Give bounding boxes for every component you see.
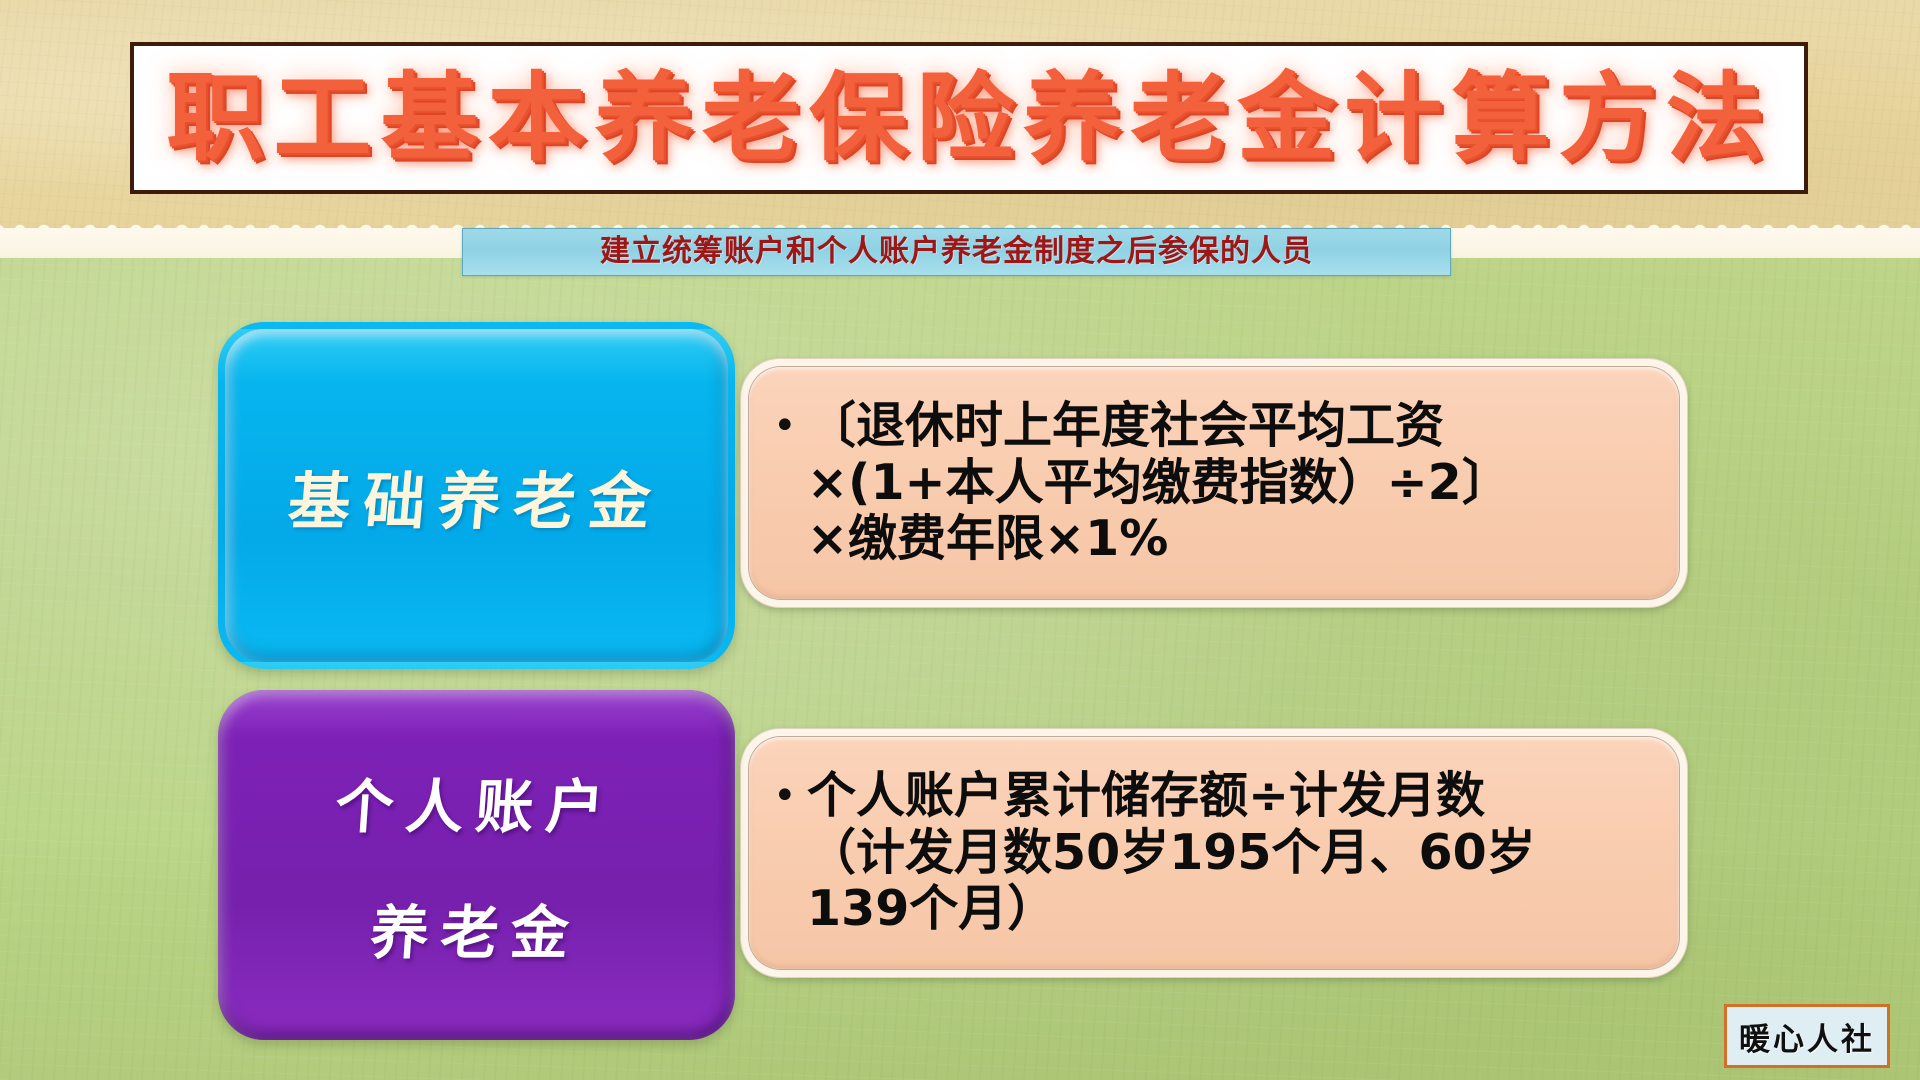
formula-card-personal-inner: • 个人账户累计储存额÷计发月数 （计发月数50岁195个月、60岁 139个月… — [749, 737, 1679, 969]
bullet-icon: • — [773, 398, 807, 454]
formula-personal-line-1: 个人账户累计储存额÷计发月数 — [807, 768, 1649, 825]
label-card-basic-pension: 基础养老金 — [218, 322, 735, 669]
formula-basic-line-2: ×(1+本人平均缴费指数）÷2〕 — [807, 455, 1649, 512]
bullet-icon: • — [773, 768, 807, 824]
formula-card-basic-pension-inner: • 〔退休时上年度社会平均工资 ×(1+本人平均缴费指数）÷2〕 ×缴费年限×1… — [749, 367, 1679, 599]
formula-personal-line-2: （计发月数50岁195个月、60岁 — [807, 825, 1649, 882]
formula-bullet-row-personal: • 个人账户累计储存额÷计发月数 （计发月数50岁195个月、60岁 139个月… — [773, 768, 1649, 938]
formula-card-personal-account-pension: • 个人账户累计储存额÷计发月数 （计发月数50岁195个月、60岁 139个月… — [740, 728, 1688, 978]
label-card-personal-line-1: 个人账户 — [334, 760, 620, 844]
formula-basic-line-1: 〔退休时上年度社会平均工资 — [807, 398, 1649, 455]
subtitle-text: 建立统筹账户和个人账户养老金制度之后参保的人员 — [600, 237, 1313, 267]
watermark-logo: 暖心人社 — [1724, 1004, 1890, 1068]
formula-basic-line-3: ×缴费年限×1% — [807, 511, 1649, 568]
formula-bullet-row-basic: • 〔退休时上年度社会平均工资 ×(1+本人平均缴费指数）÷2〕 ×缴费年限×1… — [773, 398, 1649, 568]
label-card-basic-pension-line-1: 基础养老金 — [285, 451, 668, 541]
formula-text-basic: 〔退休时上年度社会平均工资 ×(1+本人平均缴费指数）÷2〕 ×缴费年限×1% — [807, 398, 1649, 568]
label-card-personal-line-2: 养老金 — [369, 886, 585, 970]
formula-personal-line-3: 139个月） — [807, 881, 1649, 938]
formula-text-personal: 个人账户累计储存额÷计发月数 （计发月数50岁195个月、60岁 139个月） — [807, 768, 1649, 938]
watermark-logo-text: 暖心人社 — [1739, 1014, 1875, 1059]
slide-canvas: 职工基本养老保险养老金计算方法 建立统筹账户和个人账户养老金制度之后参保的人员 … — [0, 0, 1920, 1080]
formula-card-basic-pension: • 〔退休时上年度社会平均工资 ×(1+本人平均缴费指数）÷2〕 ×缴费年限×1… — [740, 358, 1688, 608]
title-box: 职工基本养老保险养老金计算方法 — [130, 42, 1808, 194]
subtitle-banner: 建立统筹账户和个人账户养老金制度之后参保的人员 — [462, 228, 1451, 276]
label-card-personal-account-pension: 个人账户 养老金 — [218, 690, 735, 1040]
page-title: 职工基本养老保险养老金计算方法 — [166, 70, 1773, 166]
